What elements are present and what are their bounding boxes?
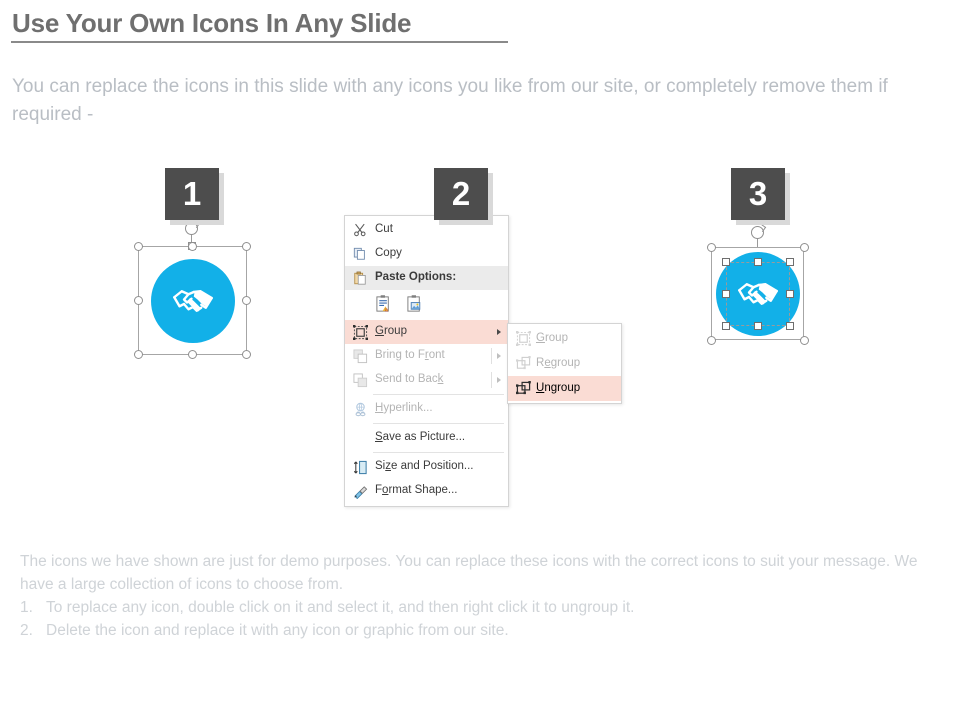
inner-handle-ne-3[interactable] — [786, 258, 794, 266]
menu-item-copy-label: Copy — [375, 248, 402, 260]
menu-item-paste-options: Paste Options: — [345, 266, 508, 290]
menu-item-format-shape[interactable]: Format Shape... — [345, 479, 508, 503]
menu-divider-line-2 — [491, 372, 492, 388]
selection-handle-n-1[interactable] — [188, 242, 197, 251]
submenu-item-regroup[interactable]: Regroup — [508, 351, 621, 376]
submenu-item-ungroup-label: Ungroup — [536, 383, 580, 395]
selection-handle-ne-3[interactable] — [800, 243, 809, 252]
menu-item-group[interactable]: Group — [345, 320, 508, 344]
submenu-item-ungroup[interactable]: Ungroup — [508, 376, 621, 401]
rotation-handle-3[interactable] — [751, 226, 764, 239]
page-subtitle: You can replace the icons in this slide … — [12, 73, 956, 129]
menu-item-cut-label: Cut — [375, 224, 393, 236]
inner-handle-sw-3[interactable] — [722, 322, 730, 330]
menu-item-size-and-position-label: Size and Position... — [375, 461, 473, 473]
submenu-item-regroup-label: Regroup — [536, 358, 580, 370]
menu-item-hyperlink-label: Hyperlink... — [375, 403, 433, 415]
submenu-arrow-bring-to-front — [497, 353, 501, 359]
selection-handle-nw-1[interactable] — [134, 242, 143, 251]
step-badge-3: 3 — [731, 168, 785, 220]
menu-item-group-label: Group — [375, 326, 407, 338]
menu-item-paste-options-label: Paste Options: — [375, 272, 456, 284]
clipboard-icon — [351, 269, 369, 287]
group-shapes-icon — [351, 323, 369, 341]
selection-handle-se-3[interactable] — [800, 336, 809, 345]
inner-handle-w-3[interactable] — [722, 290, 730, 298]
group-icon — [514, 330, 532, 348]
scissors-icon — [351, 221, 369, 239]
footer-list-item-1: 1. To replace any icon, double click on … — [20, 596, 945, 619]
menu-item-save-as-picture-label: Save as Picture... — [375, 432, 465, 444]
handshake-icon — [169, 277, 217, 325]
title-underline — [11, 41, 508, 43]
menu-item-cut[interactable]: Cut — [345, 218, 508, 242]
selection-handle-ne-1[interactable] — [242, 242, 251, 251]
paste-options-row: a — [345, 290, 508, 320]
rotation-handle-1[interactable] — [185, 222, 198, 235]
menu-separator-2 — [373, 423, 504, 424]
menu-item-size-and-position[interactable]: Size and Position... — [345, 455, 508, 479]
menu-item-bring-to-front[interactable]: Bring to Front — [345, 344, 508, 368]
menu-item-copy[interactable]: Copy — [345, 242, 508, 266]
inner-handle-n-3[interactable] — [754, 258, 762, 266]
submenu-item-group-label: Group — [536, 333, 568, 345]
rotation-stem-3 — [757, 239, 758, 247]
handshake-icon-circle-1[interactable] — [151, 259, 235, 343]
menu-item-hyperlink[interactable]: Hyperlink... — [345, 397, 508, 421]
selection-handle-w-1[interactable] — [134, 296, 143, 305]
footer-list-text-2: Delete the icon and replace it with any … — [46, 619, 509, 642]
step-badge-1: 1 — [165, 168, 219, 220]
inner-handle-nw-3[interactable] — [722, 258, 730, 266]
menu-divider-line-1 — [491, 348, 492, 364]
submenu-item-group[interactable]: Group — [508, 326, 621, 351]
page-title: Use Your Own Icons In Any Slide — [12, 8, 411, 39]
copy-pages-icon — [351, 245, 369, 263]
footer-list-number-1: 1. — [20, 596, 46, 619]
send-back-icon — [351, 371, 369, 389]
hyperlink-globe-icon — [351, 400, 369, 418]
footer-list-text-1: To replace any icon, double click on it … — [46, 596, 634, 619]
footer-paragraph: The icons we have shown are just for dem… — [20, 550, 945, 596]
inner-selection-frame-3[interactable] — [726, 262, 790, 326]
bring-front-icon — [351, 347, 369, 365]
paste-picture-icon[interactable] — [406, 294, 425, 317]
submenu-arrow-group — [497, 329, 501, 335]
size-position-icon — [351, 458, 369, 476]
menu-separator-1 — [373, 394, 504, 395]
submenu-arrow-send-to-back — [497, 377, 501, 383]
footer-list-number-2: 2. — [20, 619, 46, 642]
selection-handle-e-1[interactable] — [242, 296, 251, 305]
selection-handle-sw-1[interactable] — [134, 350, 143, 359]
inner-handle-se-3[interactable] — [786, 322, 794, 330]
ungroup-icon — [514, 380, 532, 398]
selection-handle-sw-3[interactable] — [707, 336, 716, 345]
menu-item-send-to-back-label: Send to Back — [375, 374, 443, 386]
menu-item-send-to-back[interactable]: Send to Back — [345, 368, 508, 392]
menu-item-save-as-picture[interactable]: Save as Picture... — [345, 426, 508, 450]
context-menu[interactable]: Cut Copy Paste Options: — [344, 215, 509, 507]
step-badge-2: 2 — [434, 168, 488, 220]
selection-handle-nw-3[interactable] — [707, 243, 716, 252]
footer-list-item-2: 2. Delete the icon and replace it with a… — [20, 619, 945, 642]
selection-handle-se-1[interactable] — [242, 350, 251, 359]
selection-handle-s-1[interactable] — [188, 350, 197, 359]
inner-handle-e-3[interactable] — [786, 290, 794, 298]
regroup-icon — [514, 355, 532, 373]
inner-handle-s-3[interactable] — [754, 322, 762, 330]
footer-text: The icons we have shown are just for dem… — [20, 550, 945, 642]
paste-keep-source-formatting-icon[interactable]: a — [375, 294, 394, 317]
menu-item-bring-to-front-label: Bring to Front — [375, 350, 445, 362]
menu-separator-3 — [373, 452, 504, 453]
slide-canvas: Use Your Own Icons In Any Slide You can … — [0, 0, 960, 720]
menu-item-format-shape-label: Format Shape... — [375, 485, 457, 497]
group-submenu[interactable]: Group Regroup Ungroup — [507, 323, 622, 404]
format-shape-icon — [351, 482, 369, 500]
